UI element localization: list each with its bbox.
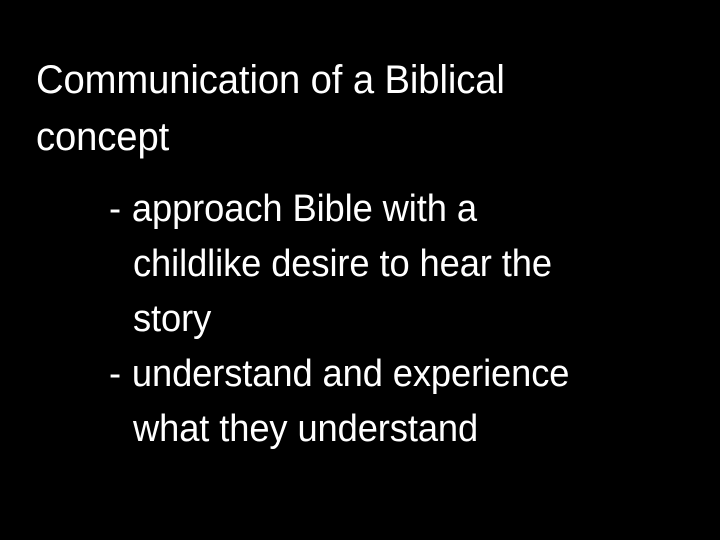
- bullet-2-dash-marker: -: [109, 347, 132, 402]
- slide-title: Communication of a Biblical concept: [36, 52, 696, 166]
- bullet-item-2: -understand and experience what they und…: [109, 347, 709, 457]
- bullet-item-1: -approach Bible with a childlike desire …: [109, 182, 709, 347]
- bullet-1-line-2: childlike desire to hear the: [133, 237, 683, 292]
- title-line-1: Communication of a Biblical: [36, 52, 666, 109]
- bullet-1-line-3: story: [133, 292, 683, 347]
- bullet-2-line-1-text: understand and experience: [132, 353, 569, 395]
- bullet-1-line-1-text: approach Bible with a: [132, 188, 477, 230]
- bullet-1-line-1: -approach Bible with a: [109, 182, 682, 237]
- presentation-slide: Communication of a Biblical concept -app…: [0, 0, 720, 540]
- title-line-2: concept: [36, 109, 666, 166]
- bullet-1-dash-marker: -: [109, 182, 132, 237]
- bullet-2-line-2: what they understand: [133, 402, 683, 457]
- slide-bullet-list: -approach Bible with a childlike desire …: [109, 182, 709, 457]
- bullet-2-line-1: -understand and experience: [109, 347, 682, 402]
